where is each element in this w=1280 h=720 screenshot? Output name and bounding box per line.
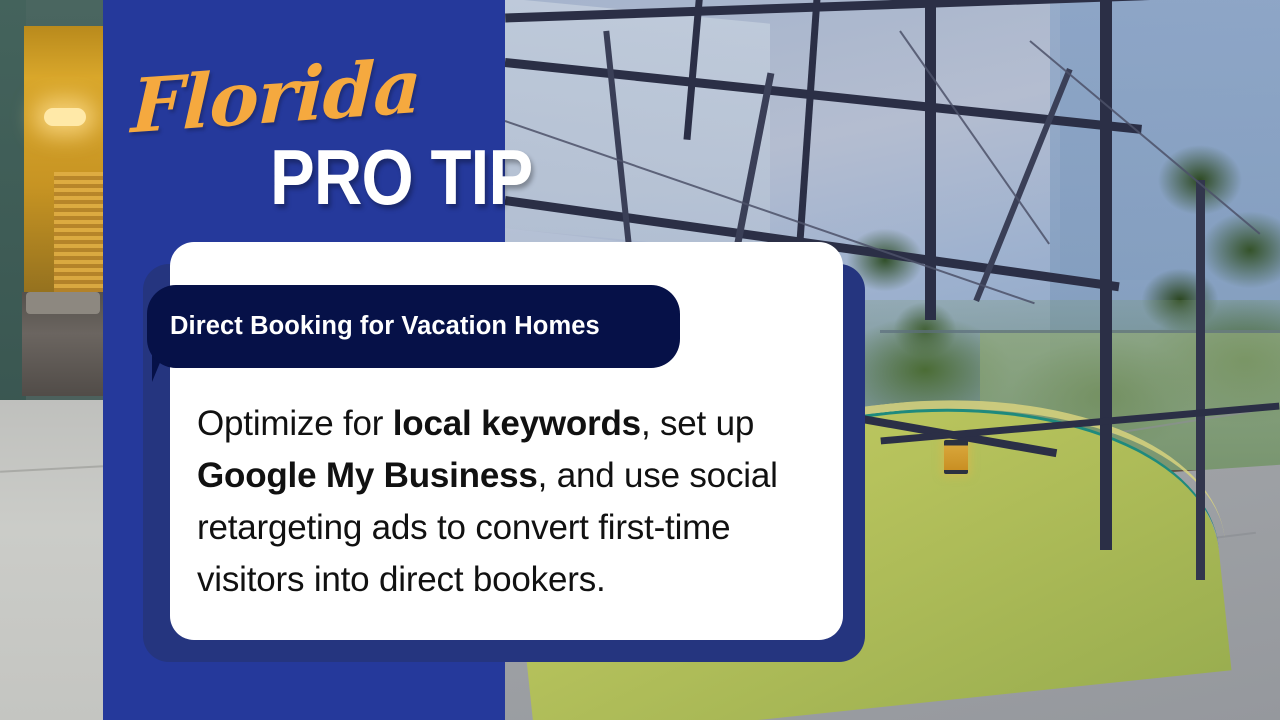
poster-canvas: Florida PRO TIP Direct Booking for Vacat… xyxy=(0,0,1280,720)
concrete-floor xyxy=(0,400,103,720)
card-heading-badge: Direct Booking for Vacation Homes xyxy=(147,285,680,368)
body-bold-1: local keywords xyxy=(393,404,641,443)
window-blinds xyxy=(54,172,103,292)
frame-post-5 xyxy=(1196,180,1205,580)
body-bold-2: Google My Business xyxy=(197,456,538,495)
frame-post-4 xyxy=(1100,0,1112,550)
fence-line xyxy=(880,330,1280,333)
card-heading-label: Direct Booking for Vacation Homes xyxy=(170,312,600,341)
sofa-cushion xyxy=(26,292,100,314)
body-segment-2: , set up xyxy=(641,404,754,443)
card-body-text: Optimize for local keywords, set up Goog… xyxy=(197,398,807,606)
left-photo-strip xyxy=(0,0,103,720)
frame-post-3 xyxy=(925,0,936,320)
body-segment-1: Optimize for xyxy=(197,404,393,443)
ceiling-light xyxy=(44,108,86,126)
deck-lantern xyxy=(944,440,968,474)
